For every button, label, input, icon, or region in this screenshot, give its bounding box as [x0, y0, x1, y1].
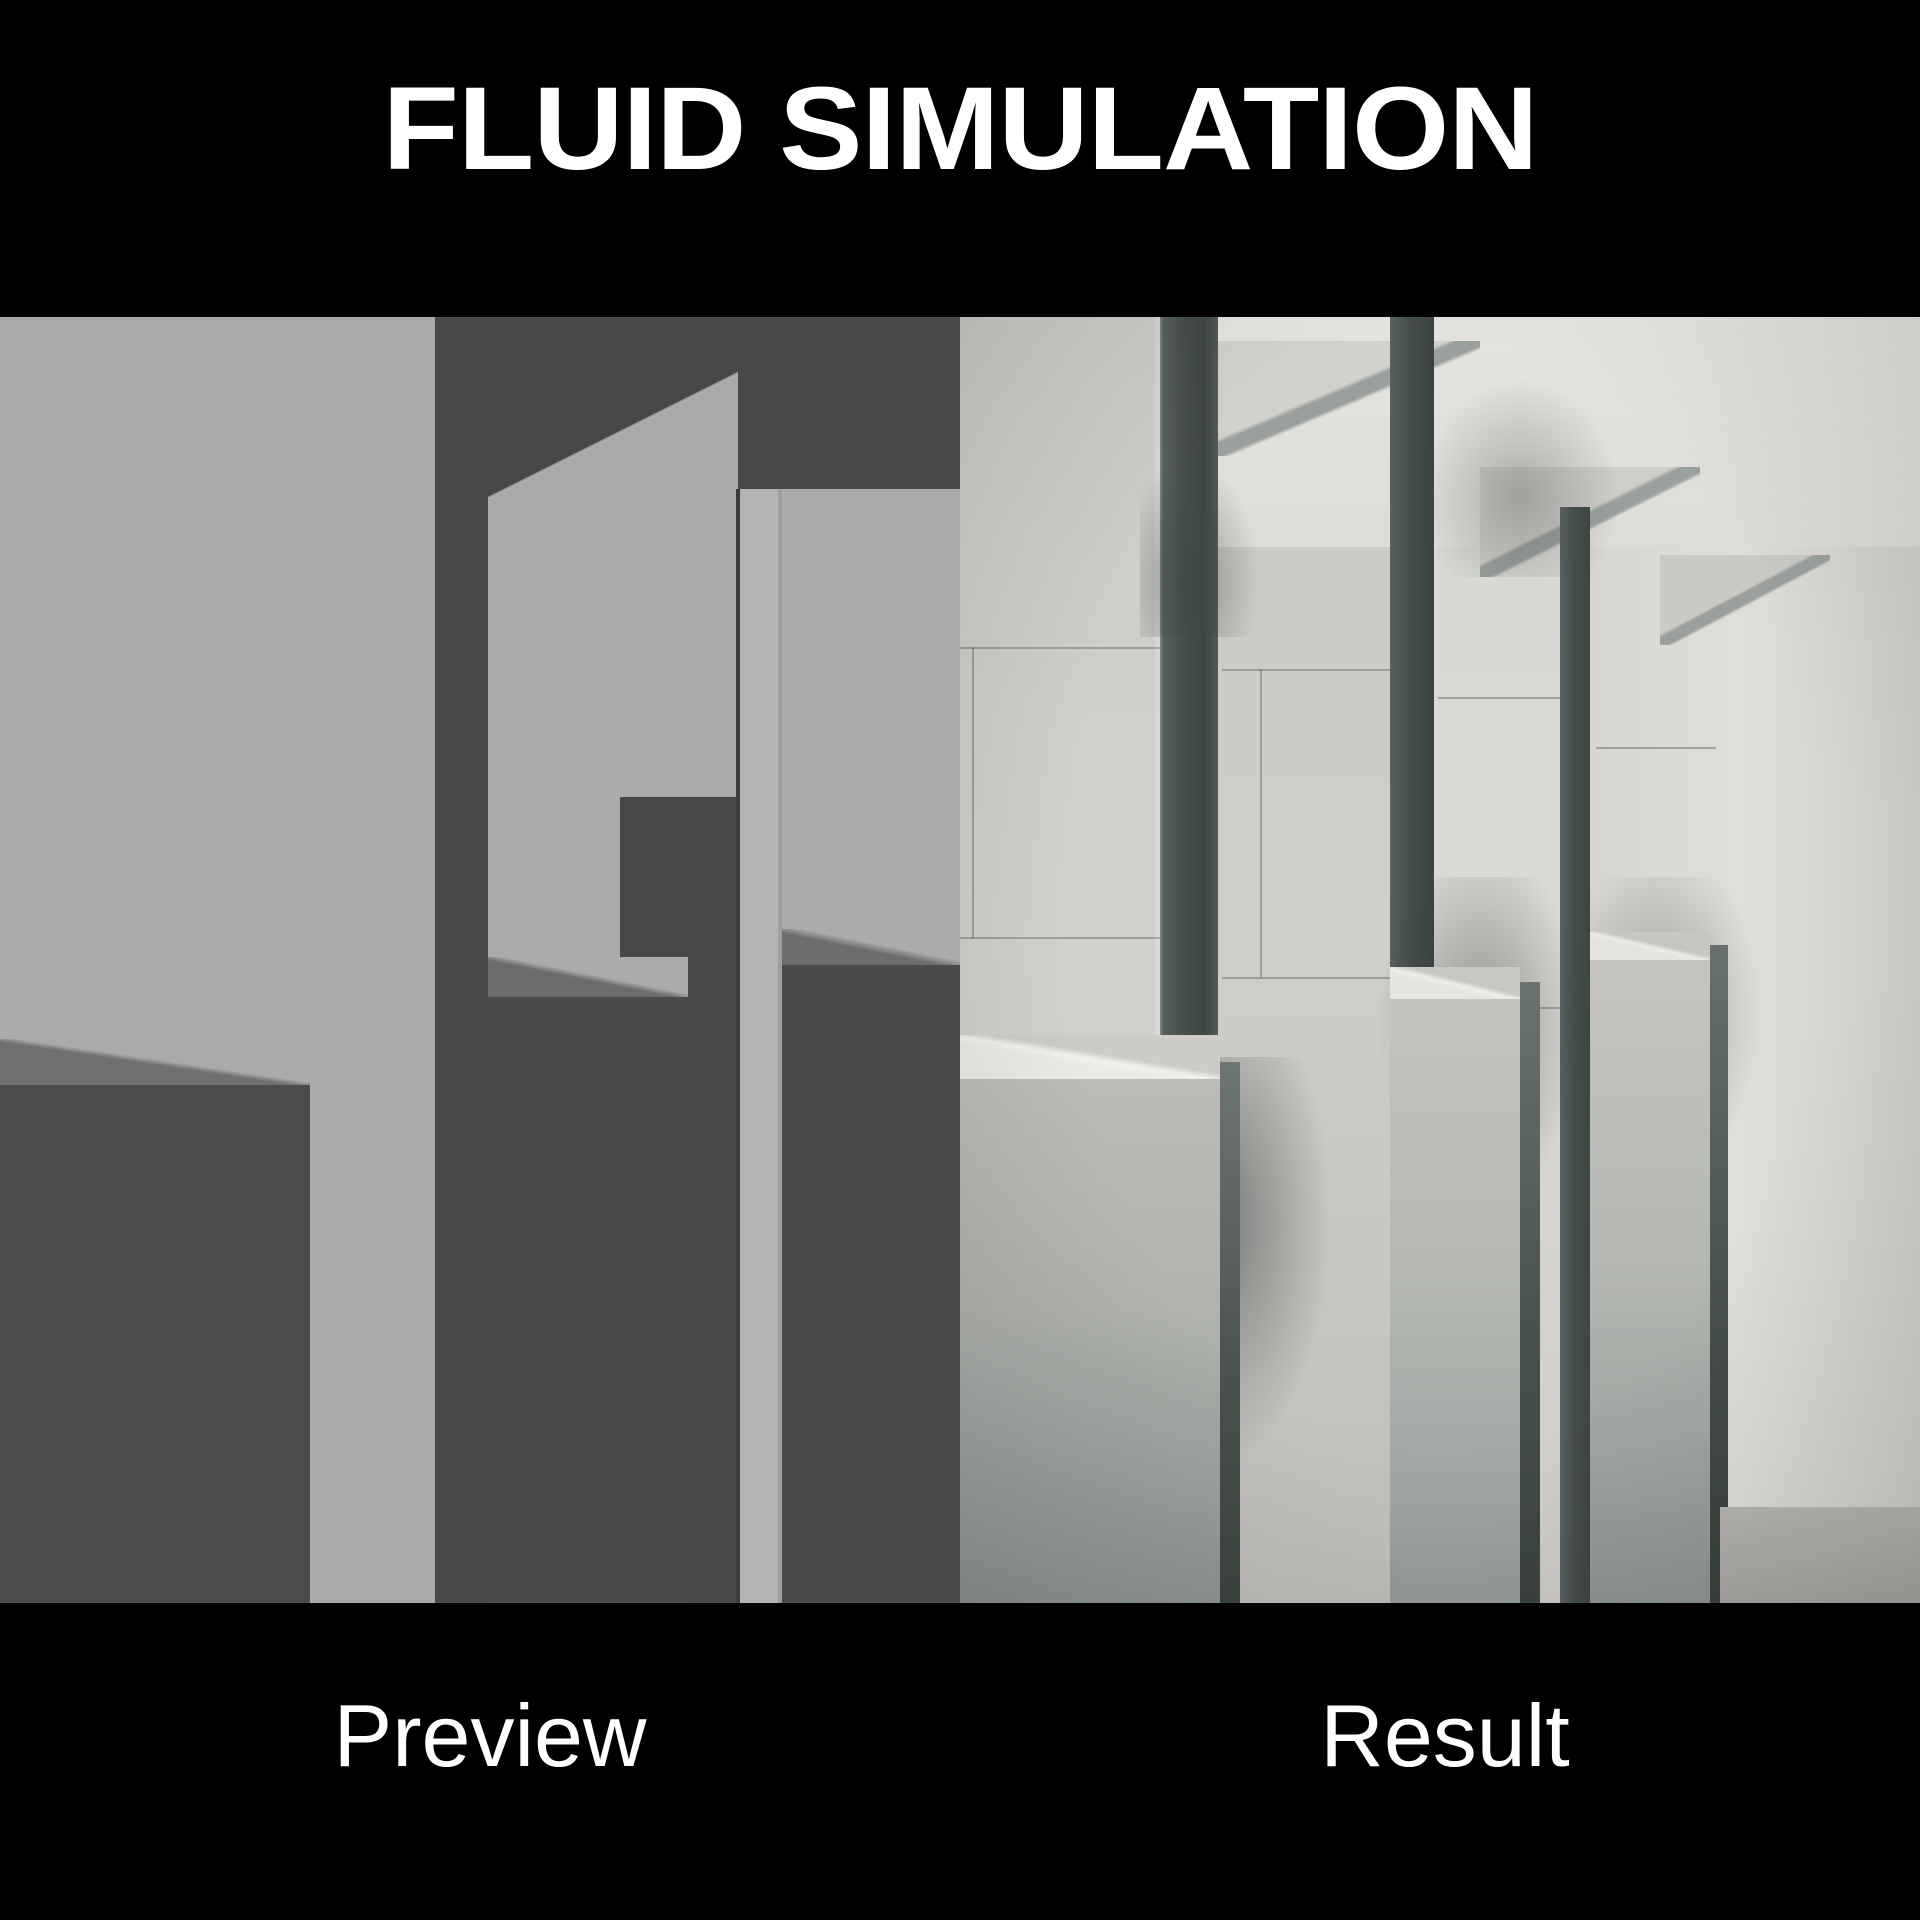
preview-bench-left-face [0, 1079, 310, 1603]
title-bar: FLUID SIMULATION [0, 0, 1920, 317]
preview-pier-shadow-line [736, 489, 740, 1603]
preview-label: Preview [190, 1688, 790, 1784]
preview-bench-right-face [782, 962, 960, 1603]
preview-bench-middle-face [488, 993, 688, 1603]
preview-bench-middle-top [488, 957, 688, 997]
comparison-screenshot: FLUID SIMULATION [0, 0, 1920, 1920]
comparison-band [0, 317, 1920, 1603]
result-label: Result [1145, 1688, 1745, 1784]
result-panel [960, 317, 1920, 1603]
preview-soffit-diagonal [488, 372, 738, 497]
preview-bench-left-top [0, 1039, 310, 1085]
page-title: FLUID SIMULATION [0, 70, 1920, 188]
label-bar: Preview Result [0, 1603, 1920, 1920]
preview-panel [0, 317, 960, 1603]
preview-pier [738, 489, 778, 1603]
preview-column-left [435, 317, 495, 1603]
result-vignette [960, 317, 1920, 1603]
preview-bench-right-top [782, 929, 960, 965]
